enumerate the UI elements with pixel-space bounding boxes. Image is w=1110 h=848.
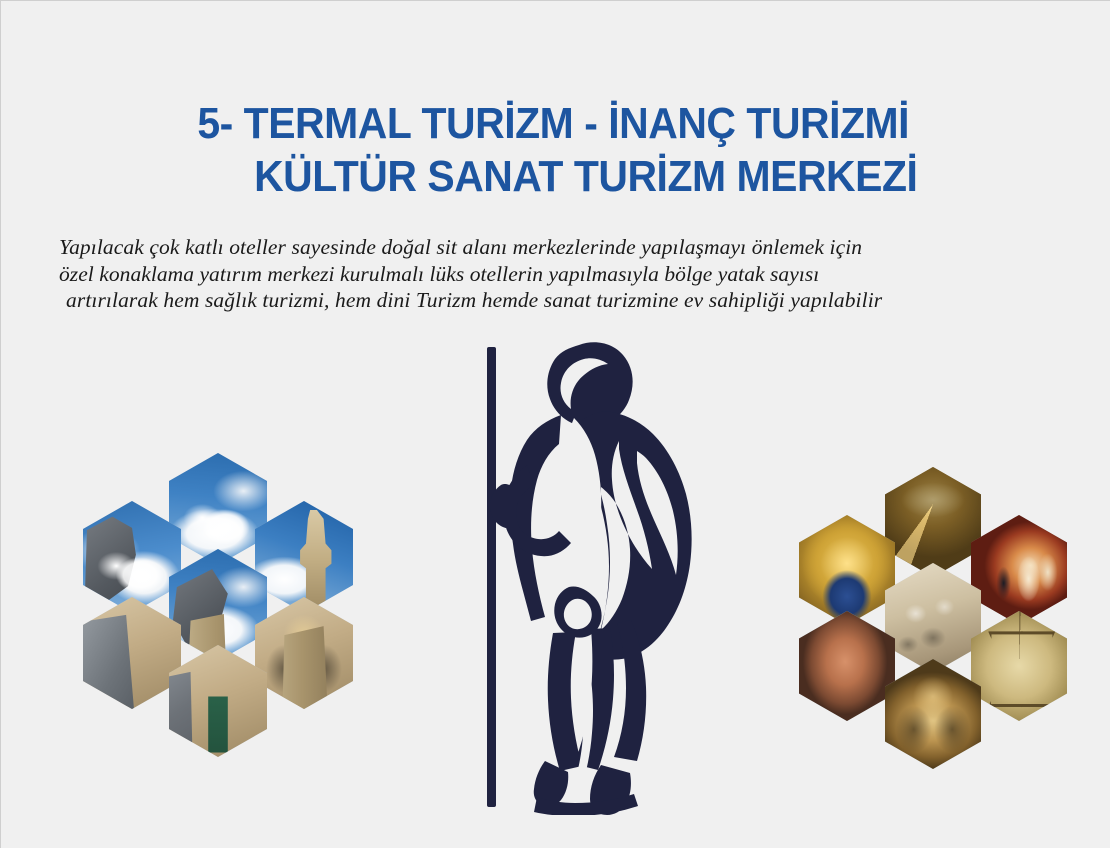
hex-statue-drapery (83, 597, 181, 709)
hex-sky-clouds-top (169, 453, 267, 565)
hex-minaret (255, 501, 353, 613)
hex-virgin-mary-statue (799, 611, 895, 721)
page-title: 5- TERMAL TURİZM - İNANÇ TURİZMİ KÜLTÜR … (1, 97, 1110, 203)
body-line-2: özel konaklama yatırım merkezi kurulmalı… (59, 261, 1059, 288)
hex-nemrut-head (83, 501, 181, 613)
body-line-1: Yapılacak çok katlı oteller sayesinde do… (59, 234, 1059, 261)
hex-ancient-ruins-center (885, 563, 981, 673)
culture-heritage-hex-cluster (69, 453, 369, 733)
pilgrim-silhouette (441, 337, 729, 815)
title-line-1: 5- TERMAL TURİZM - İNANÇ TURİZMİ (40, 97, 1072, 150)
hex-star-of-david-tile (971, 611, 1067, 721)
body-paragraph: Yapılacak çok katlı oteller sayesinde do… (59, 234, 1059, 314)
hex-stone-ruins-center (169, 549, 267, 661)
hex-christ-pantocrator (799, 515, 895, 625)
body-line-3: artırılarak hem sağlık turizmi, hem dini… (59, 287, 1059, 314)
hex-green-door (169, 645, 267, 757)
faith-tourism-hex-cluster (787, 467, 1079, 755)
hex-hagia-sophia-dome (885, 467, 981, 577)
title-line-2: KÜLTÜR SANAT TURİZM MERKEZİ (40, 150, 1072, 203)
hex-stone-arches (255, 597, 353, 709)
hex-whirling-dervishes (971, 515, 1067, 625)
hex-church-fresco (885, 659, 981, 769)
slide-canvas: 5- TERMAL TURİZM - İNANÇ TURİZMİ KÜLTÜR … (0, 0, 1110, 848)
